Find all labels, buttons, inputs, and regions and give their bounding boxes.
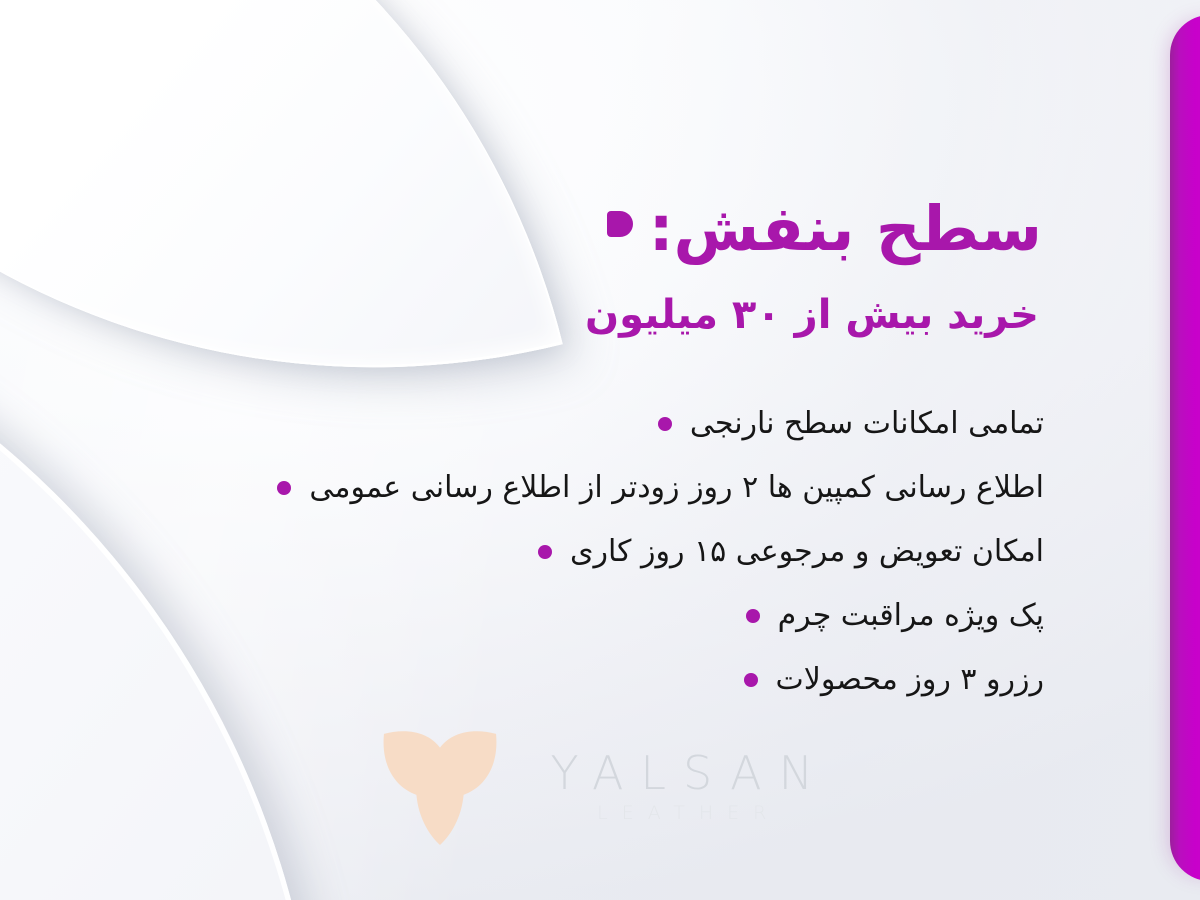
list-item-label: امکان تعویض و مرجوعی ۱۵ روز کاری [570,534,1044,570]
page-subtitle: خرید بیش از ۳۰ میلیون [585,292,1039,338]
list-item: رزرو ۳ روز محصولات [84,648,1044,712]
purple-dot-icon [277,481,291,495]
poster-canvas: سطح بنفش: خرید بیش از ۳۰ میلیون تمامی ام… [0,0,1200,900]
list-item-label: اطلاع رسانی کمپین ها ۲ روز زودتر از اطلا… [309,470,1044,506]
page-title: سطح بنفش: [607,198,1042,260]
benefits-list: تمامی امکانات سطح نارنجی اطلاع رسانی کمپ… [84,392,1044,712]
square-dot-icon [607,211,633,237]
list-item-label: تمامی امکانات سطح نارنجی [690,406,1044,442]
purple-dot-icon [746,609,760,623]
page-title-text: سطح بنفش: [649,198,1042,260]
brand-wordmark: YALSAN LEATHER [533,750,830,823]
list-item: تمامی امکانات سطح نارنجی [84,392,1044,456]
brand-tagline: LEATHER [583,804,780,823]
list-item: اطلاع رسانی کمپین ها ۲ روز زودتر از اطلا… [84,456,1044,520]
content-column: سطح بنفش: خرید بیش از ۳۰ میلیون تمامی ام… [72,0,1152,900]
trefoil-leaf-icon [381,726,499,846]
list-item-label: رزرو ۳ روز محصولات [776,662,1044,698]
brand-name: YALSAN [533,750,830,796]
purple-dot-icon [658,417,672,431]
side-accent-bar [1170,15,1200,881]
brand-logo: YALSAN LEATHER [381,726,830,846]
list-item: امکان تعویض و مرجوعی ۱۵ روز کاری [84,520,1044,584]
purple-dot-icon [744,673,758,687]
list-item: پک ویژه مراقبت چرم [84,584,1044,648]
list-item-label: پک ویژه مراقبت چرم [778,598,1044,634]
purple-dot-icon [538,545,552,559]
